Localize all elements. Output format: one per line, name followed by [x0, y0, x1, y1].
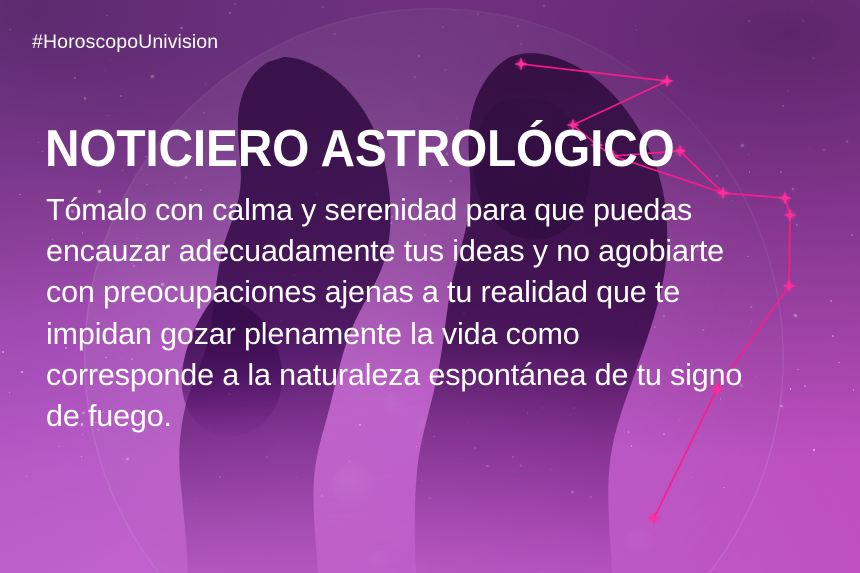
body-line-5: corresponde a la naturaleza espontánea d… — [46, 355, 836, 396]
horoscope-card: #HoroscopoUnivision NOTICIERO ASTROLÓGIC… — [0, 0, 860, 573]
body-line-3: con preocupaciones ajenas a tu realidad … — [46, 272, 836, 313]
body-line-6: de fuego. — [46, 396, 836, 437]
body-line-2: encauzar adecuadamente tus ideas y no ag… — [46, 231, 836, 272]
body-line-1: Tómalo con calma y serenidad para que pu… — [46, 190, 836, 231]
hashtag-label: #HoroscopoUnivision — [32, 31, 218, 54]
horoscope-body-text: Tómalo con calma y serenidad para que pu… — [46, 190, 836, 437]
page-title: NOTICIERO ASTROLÓGICO — [45, 123, 675, 175]
body-line-4: impidan gozar plenamente la vida como — [46, 314, 836, 355]
